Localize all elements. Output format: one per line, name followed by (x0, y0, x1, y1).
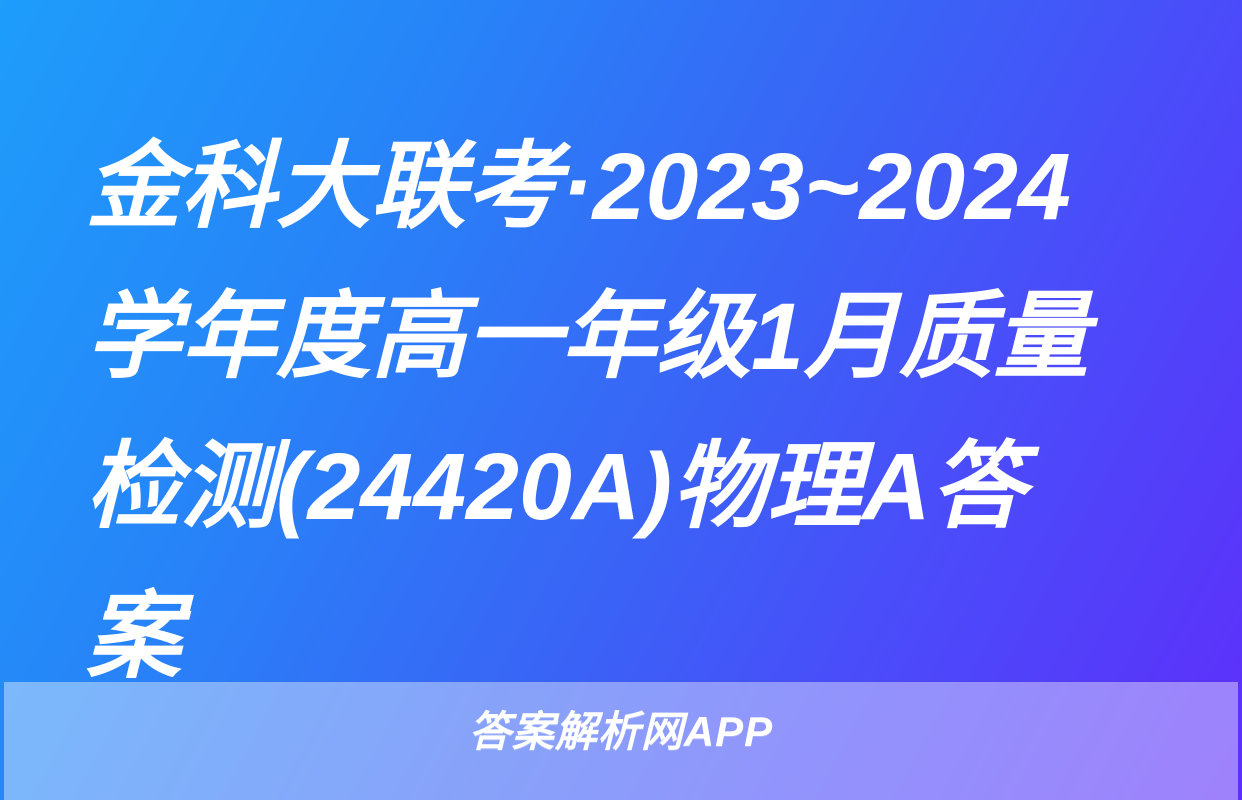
watermark-app-label: 答案解析网APP (469, 708, 773, 756)
answer-cover-card: 金科大联考·2023~2024 学年度高一年级1月质量 检测(24420A)物理… (0, 0, 1242, 800)
page-title: 金科大联考·2023~2024 学年度高一年级1月质量 检测(24420A)物理… (86, 112, 1156, 712)
title-line-3: 检测(24420A)物理A答 (86, 412, 1156, 562)
title-line-1: 金科大联考·2023~2024 (86, 112, 1156, 262)
title-line-2: 学年度高一年级1月质量 (86, 262, 1156, 412)
watermark-band: 答案解析网APP (4, 682, 1238, 800)
